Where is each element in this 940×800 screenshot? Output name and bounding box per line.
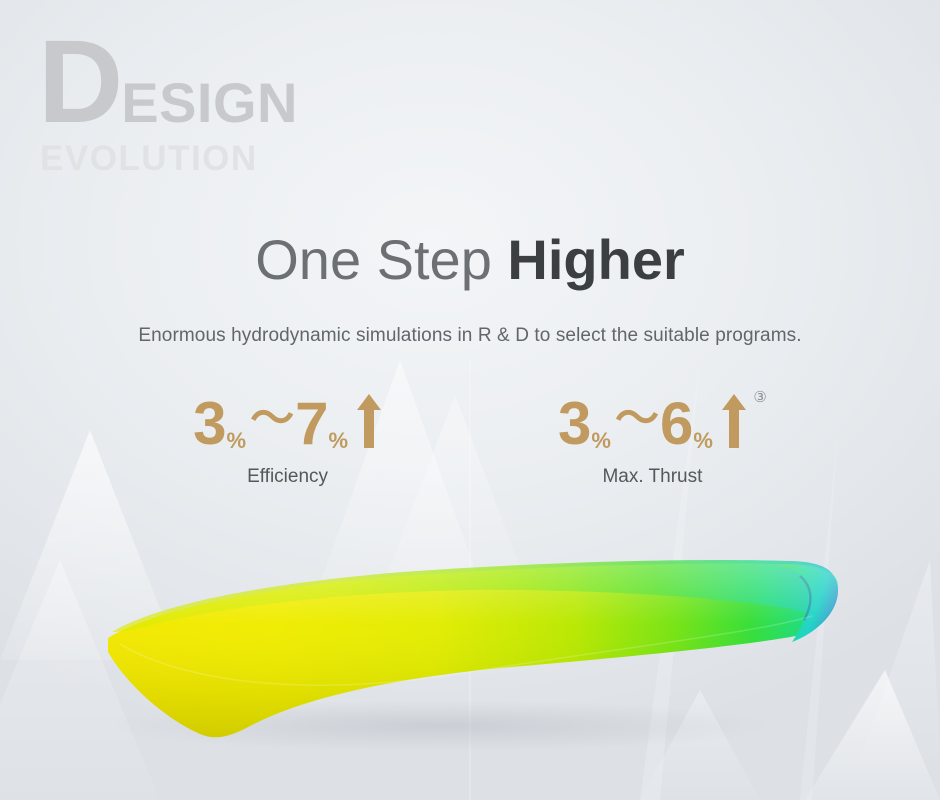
stat-max-thrust-range-symbol: 〜 (615, 397, 659, 441)
page-subtitle: Enormous hydrodynamic simulations in R &… (0, 325, 940, 347)
stat-efficiency-max-percent: % (328, 430, 348, 452)
design-evolution-page: DESIGN EVOLUTION One Step Higher Enormou… (0, 0, 940, 800)
up-arrow-icon (356, 392, 382, 450)
page-title-light: One Step (255, 228, 507, 291)
brand-logo: DESIGN EVOLUTION (38, 28, 298, 176)
statistics-group: 3%〜7% Efficiency 3%〜6% ③ Max. Thrust (0, 392, 940, 488)
propeller-blade-image (0, 540, 940, 800)
stat-max-thrust-label: Max. Thrust (558, 466, 747, 488)
stat-max-thrust-figure: 3%〜6% (558, 392, 747, 454)
brand-logo-word: ESIGN (121, 71, 298, 134)
stat-efficiency-figure: 3%〜7% (193, 392, 382, 454)
up-arrow-icon (721, 392, 747, 450)
stat-efficiency-range-symbol: 〜 (250, 397, 294, 441)
brand-logo-evolution-line: EVOLUTION (40, 141, 298, 176)
stat-max-thrust: 3%〜6% ③ Max. Thrust (558, 392, 747, 488)
stat-max-thrust-min-percent: % (591, 430, 611, 452)
footnote-marker: ③ (753, 390, 766, 405)
stat-max-thrust-max-percent: % (693, 430, 713, 452)
stat-efficiency-min-percent: % (227, 430, 247, 452)
stat-max-thrust-min: 3 (558, 395, 590, 454)
stat-efficiency-label: Efficiency (193, 466, 382, 488)
brand-logo-design-line: DESIGN (38, 28, 298, 137)
stat-efficiency-min: 3 (193, 395, 225, 454)
stat-max-thrust-max: 6 (660, 395, 692, 454)
stat-efficiency: 3%〜7% Efficiency (193, 392, 382, 488)
stat-efficiency-max: 7 (295, 395, 327, 454)
propeller-blade-cfd-svg (0, 540, 940, 800)
page-title-bold: Higher (507, 228, 684, 291)
page-title: One Step Higher (0, 229, 940, 292)
brand-logo-initial: D (38, 16, 121, 148)
